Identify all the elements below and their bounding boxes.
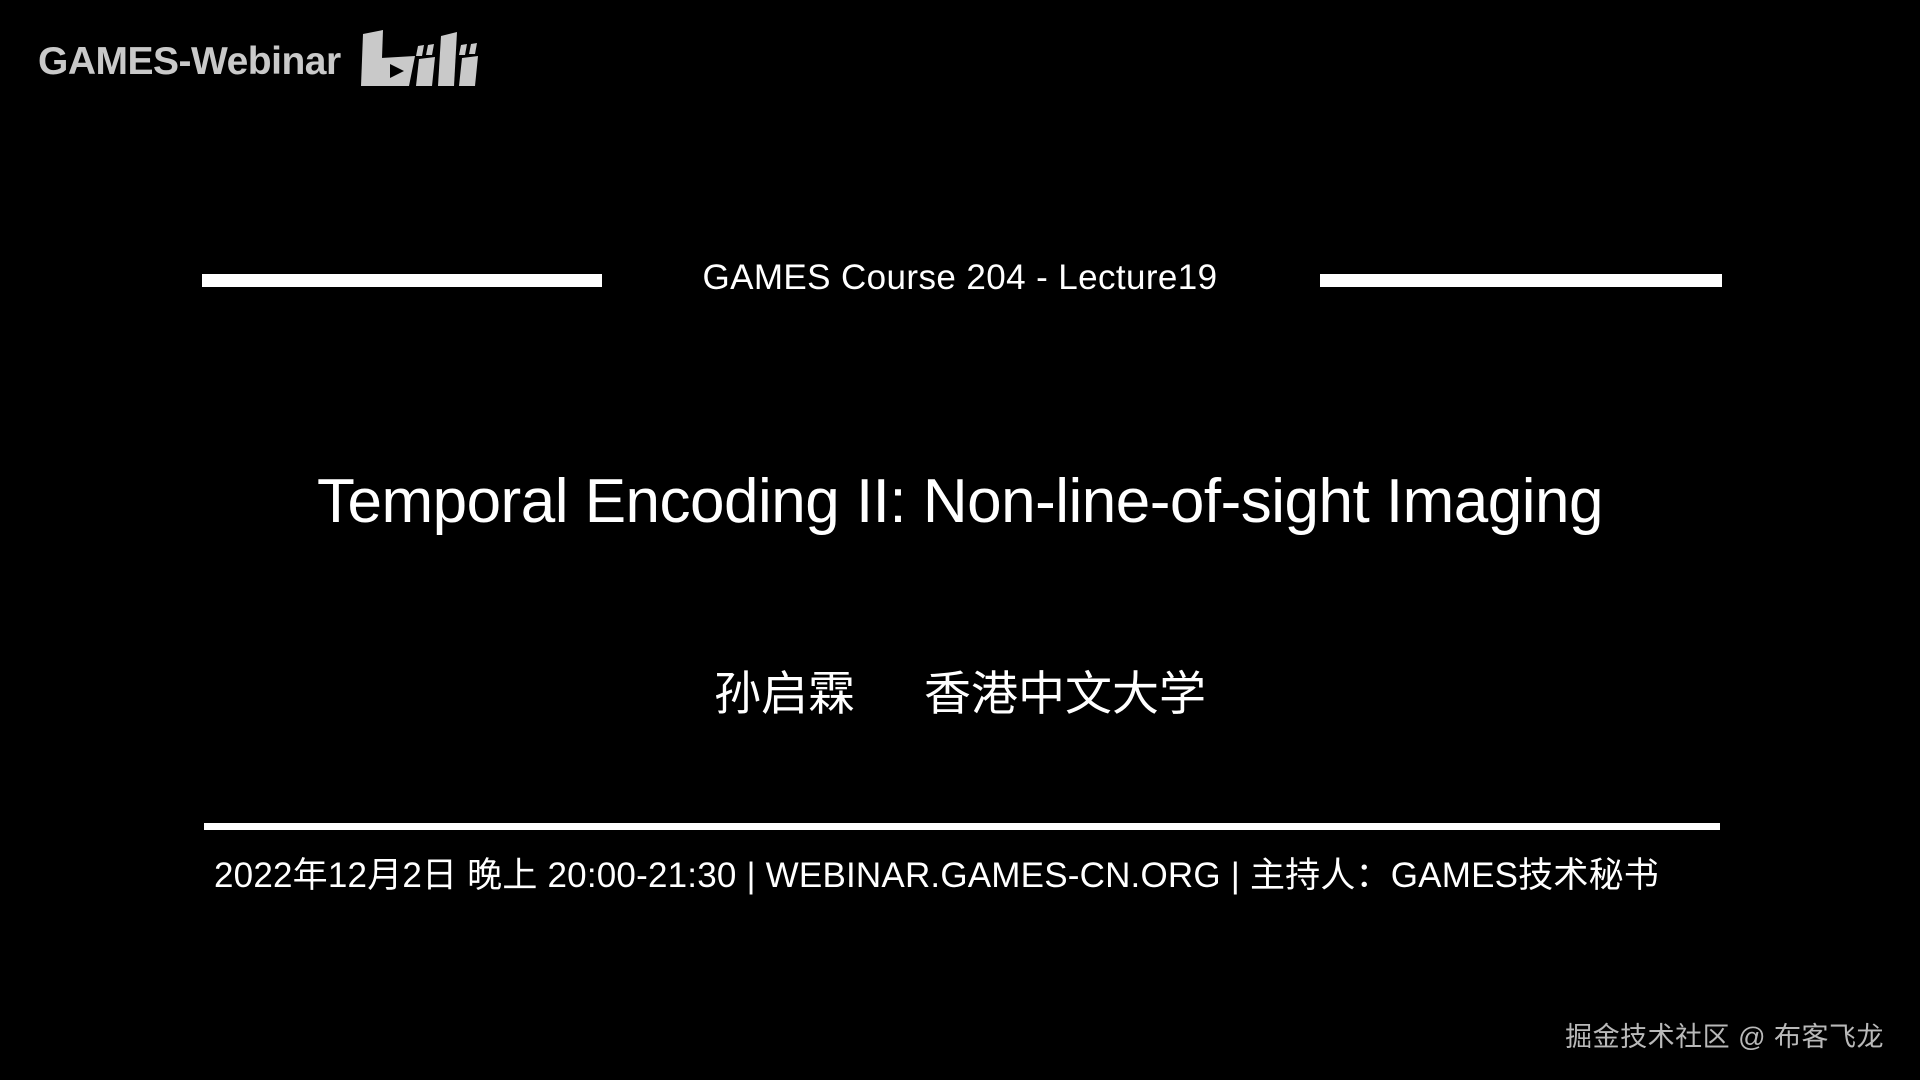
watermark: 掘金技术社区 @ 布客飞龙: [1565, 1015, 1884, 1054]
speaker-name: 孙启霖: [714, 667, 855, 720]
decorative-rule-left: [202, 274, 602, 287]
course-header-row: GAMES Course 204 - Lecture19: [0, 258, 1920, 302]
footer-info-line: 2022年12月2日 晚上 20:00-21:30 | WEBINAR.GAME…: [214, 847, 1659, 898]
webinar-brand-label: GAMES-Webinar: [38, 42, 341, 81]
footer-divider: [204, 823, 1720, 830]
speaker-affiliation: 香港中文大学: [924, 667, 1206, 720]
decorative-rule-right: [1320, 274, 1722, 287]
presentation-slide: GAMES-Webinar: [0, 0, 1920, 1080]
course-label: GAMES Course 204 - Lecture19: [702, 258, 1217, 298]
speaker-row: 孙启霖 香港中文大学: [0, 655, 1920, 724]
lecture-title: Temporal Encoding II: Non-line-of-sight …: [0, 467, 1920, 536]
brand-header: GAMES-Webinar: [38, 30, 503, 92]
bilibili-logo-icon: [357, 28, 503, 95]
